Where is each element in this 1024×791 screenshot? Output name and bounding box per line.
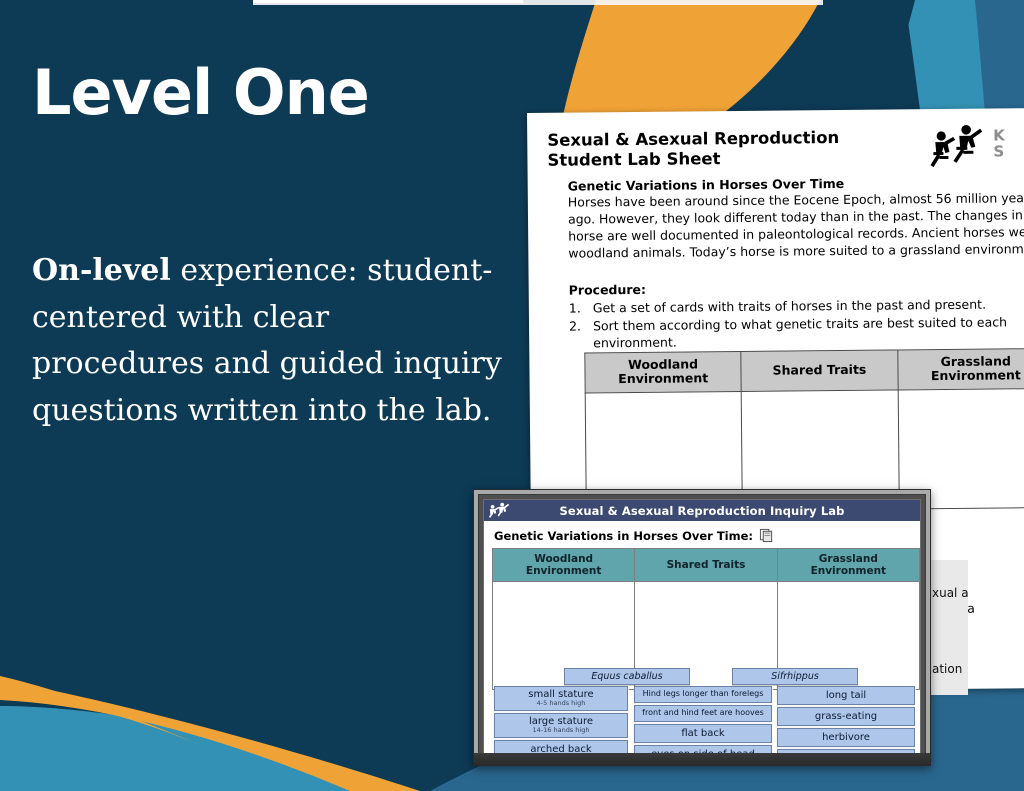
inquiry-subtitle-row: Genetic Variations in Horses Over Time: [494, 528, 774, 543]
trait-card[interactable]: flat back [634, 724, 772, 743]
column-header-grassland: Grassland Environment [897, 348, 1024, 389]
trait-card[interactable]: grass-eating [777, 707, 915, 726]
list-item: 2. Sort them according to what genetic t… [569, 314, 1024, 353]
column-header-shared: Shared Traits [635, 549, 777, 582]
trait-card-tray: Equus caballus Sifrhippus small stature … [484, 668, 920, 764]
lab-sheet-title: Sexual & Asexual Reproduction Student La… [547, 128, 877, 171]
trait-card-label: flat back [681, 728, 724, 739]
species-label-sifrhippus[interactable]: Sifrhippus [732, 668, 858, 685]
trait-card-label: long tail [826, 690, 866, 701]
window-frame: Sexual & Asexual Reproduction Inquiry La… [478, 494, 926, 765]
page-title: Level One [32, 62, 369, 124]
trait-card-sublabel: 14-16 hands high [497, 727, 625, 735]
table-header-row: Woodland Environment Shared Traits Grass… [585, 348, 1024, 392]
peek-text-one: xual a [932, 586, 968, 600]
window-title: Sexual & Asexual Reproduction Inquiry La… [484, 504, 920, 518]
window-titlebar[interactable]: Sexual & Asexual Reproduction Inquiry La… [484, 500, 920, 521]
copy-clipboard-icon[interactable] [759, 528, 774, 543]
step-text: Sort them according to what genetic trai… [593, 314, 1024, 352]
inquiry-subtitle: Genetic Variations in Horses Over Time: [494, 529, 753, 543]
svg-text:S: S [993, 142, 1004, 160]
step-number: 1. [569, 300, 593, 317]
inquiry-lab-window[interactable]: Sexual & Asexual Reproduction Inquiry La… [473, 489, 931, 766]
step-number: 2. [569, 318, 593, 352]
two-people-climbing-icon: K S [925, 122, 1024, 171]
trait-card-sublabel: 4-5 hands high [497, 700, 625, 708]
trait-card-label: herbivore [822, 732, 870, 743]
trait-card[interactable]: herbivore [777, 728, 915, 747]
column-header-grassland: Grassland Environment [777, 549, 919, 582]
trait-card[interactable]: small stature 4-5 hands high [494, 686, 628, 711]
window-client-area: Sexual & Asexual Reproduction Inquiry La… [483, 499, 921, 764]
procedure-label: Procedure: [569, 282, 646, 298]
procedure-steps-list: 1. Get a set of cards with traits of hor… [569, 296, 1024, 353]
species-label-equus[interactable]: Equus caballus [564, 668, 690, 685]
top-edge-strip-highlight [253, 0, 523, 3]
table-header-row: Woodland Environment Shared Traits Grass… [493, 549, 920, 582]
lab-sheet-title-line2: Student Lab Sheet [547, 147, 877, 170]
document-peek-strip: xual a ation [929, 560, 968, 695]
trait-card[interactable]: long tail [777, 686, 915, 705]
window-bottom-edge [474, 753, 930, 765]
trait-card-label: front and hind feet are hooves [642, 708, 764, 717]
trait-card[interactable]: Hind legs longer than forelegs [634, 686, 772, 703]
two-people-climbing-icon [488, 502, 510, 519]
column-header-woodland: Woodland Environment [493, 549, 635, 582]
lab-sheet-paragraph: Horses have been around since the Eocene… [568, 190, 1024, 262]
peek-text-two: ation [932, 662, 962, 676]
trait-card-label: grass-eating [815, 711, 877, 722]
slide-canvas: Level One On-level experience: student-c… [0, 0, 1024, 791]
slide-body-text: On-level experience: student-centered wi… [32, 248, 502, 434]
slide-body-lead: On-level [32, 253, 171, 288]
trait-card[interactable]: large stature 14-16 hands high [494, 713, 628, 738]
lab-sheet-sorting-table: Woodland Environment Shared Traits Grass… [584, 348, 1024, 512]
lab-sheet-section-heading: Genetic Variations in Horses Over Time [568, 176, 845, 194]
column-header-woodland: Woodland Environment [585, 351, 742, 392]
trait-card-label: Hind legs longer than forelegs [643, 689, 764, 698]
column-header-shared: Shared Traits [741, 350, 898, 391]
trait-card[interactable]: front and hind feet are hooves [634, 705, 772, 722]
lab-sheet-title-line1: Sexual & Asexual Reproduction [547, 128, 877, 151]
